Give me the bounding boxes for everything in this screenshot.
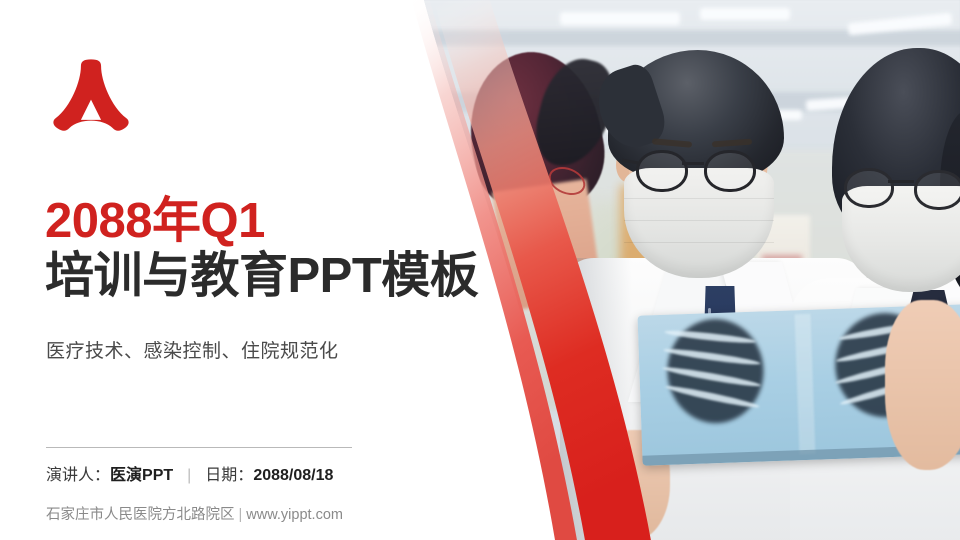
website-url: www.yippt.com	[246, 507, 343, 523]
title-line-main: 培训与教育PPT模板	[45, 250, 465, 304]
footer-line: 石家庄市人民医院方北路院区|www.yippt.com	[46, 503, 343, 524]
tripod-triangle-logo-icon	[48, 56, 134, 140]
footer-divider: |	[239, 507, 243, 523]
date-label: 日期：	[205, 467, 253, 484]
ceiling-beam	[430, 30, 960, 46]
meta-separator: |	[187, 467, 191, 484]
subtitle: 医疗技术、感染控制、住院规范化	[46, 336, 339, 363]
presenter-value: 医演PPT	[110, 467, 173, 484]
female-doctor-glasses	[844, 168, 960, 202]
xray-spine	[795, 314, 816, 454]
ceiling-light	[700, 8, 790, 20]
ceiling-light	[560, 12, 680, 25]
right-hand	[885, 300, 960, 470]
page-title: 2088年Q1 培训与教育PPT模板	[45, 196, 465, 304]
organization-name: 石家庄市人民医院方北路院区	[46, 507, 235, 523]
title-line-year: 2088年Q1	[45, 196, 465, 248]
title-panel: 2088年Q1 培训与教育PPT模板 医疗技术、感染控制、住院规范化 演讲人：医…	[0, 0, 430, 540]
divider-line	[46, 447, 352, 448]
male-doctor-glasses	[636, 150, 764, 186]
presentation-slide: 2088年Q1 培训与教育PPT模板 医疗技术、感染控制、住院规范化 演讲人：医…	[0, 0, 960, 540]
presenter-label: 演讲人：	[46, 467, 110, 484]
presenter-meta: 演讲人：医演PPT|日期：2088/08/18	[46, 461, 333, 485]
date-value: 2088/08/18	[253, 467, 333, 484]
